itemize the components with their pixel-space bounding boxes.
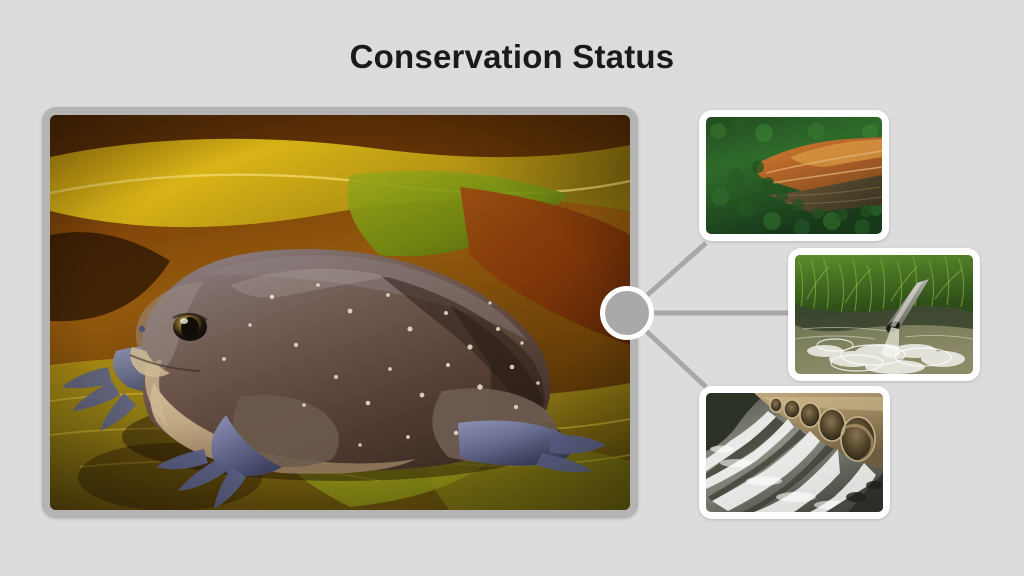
hub-node[interactable] [600, 286, 654, 340]
page-title: Conservation Status [0, 38, 1024, 76]
pipe-outfall-photo [795, 255, 973, 374]
culverts-photo [706, 393, 883, 512]
main-photo-frame[interactable] [42, 107, 638, 518]
deforestation-photo [706, 117, 882, 234]
frog-on-leaves-photo [50, 115, 630, 510]
thumbnail-deforestation[interactable] [699, 110, 889, 241]
thumbnail-pipe-outfall[interactable] [788, 248, 980, 381]
thumbnail-culverts[interactable] [699, 386, 890, 519]
